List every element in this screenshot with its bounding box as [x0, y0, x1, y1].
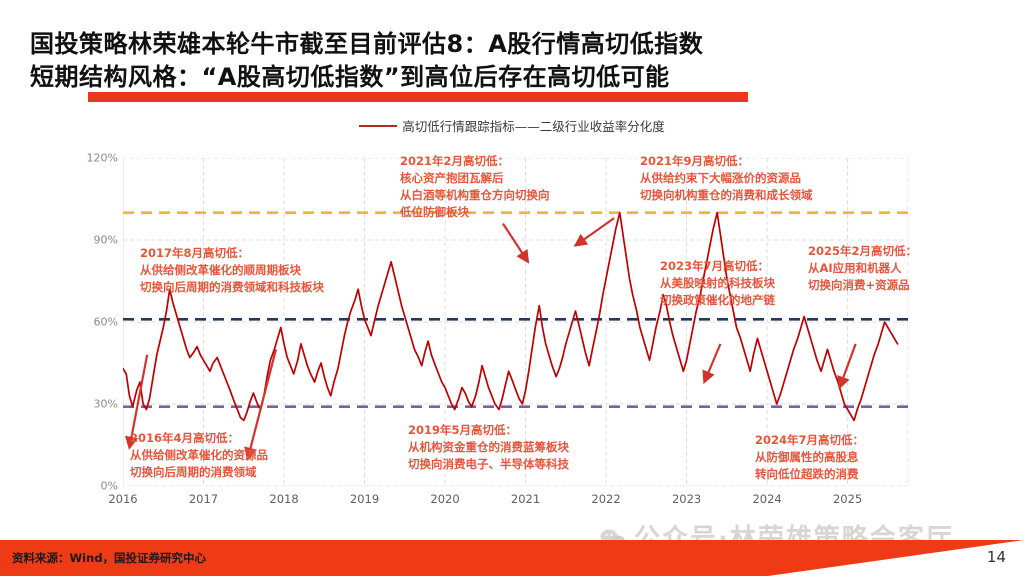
anno-2019-05-line1: 从机构资金重仓的消费蓝筹板块: [408, 439, 569, 456]
anno-2021-02-line1: 核心资产抱团瓦解后: [400, 170, 550, 187]
source-note: 资料来源：Wind，国投证券研究中心: [12, 550, 206, 566]
anno-2021-09-line1: 从供给约束下大幅涨价的资源品: [640, 170, 813, 187]
anno-2019-05-line2: 切换向消费电子、半导体等科技: [408, 456, 569, 473]
anno-2024-07-title: 2024年7月高切低：: [755, 432, 864, 449]
anno-2017-08: 2017年8月高切低：从供给侧改革催化的顺周期板块切换向后周期的消费领域和科技板…: [140, 245, 324, 296]
anno-2025-02-line2: 切换向消费+资源品: [808, 277, 917, 294]
anno-2021-02: 2021年2月高切低：核心资产抱团瓦解后从白酒等机构重仓方向切换向低位防御板块: [400, 153, 550, 221]
x-axis-tick: 2021: [511, 492, 540, 506]
anno-2024-07-line2: 转向低位超跌的消费: [755, 466, 864, 483]
page-title-line-2: 短期结构风格：“A股高切低指数”到高位后存在高切低可能: [30, 57, 670, 92]
x-axis-tick: 2018: [269, 492, 298, 506]
anno-2021-02-title: 2021年2月高切低：: [400, 153, 550, 170]
anno-2021-09-title: 2021年9月高切低：: [640, 153, 813, 170]
anno-2016-04-line2: 切换向后周期的消费领域: [130, 464, 268, 481]
x-axis-tick: 2022: [591, 492, 620, 506]
y-axis-tick: 90%: [74, 234, 118, 247]
x-axis-tick: 2019: [350, 492, 379, 506]
y-axis-tick: 30%: [74, 398, 118, 411]
page-number: 14: [987, 548, 1006, 566]
anno-2021-02-line3: 低位防御板块: [400, 204, 550, 221]
x-axis-tick: 2020: [430, 492, 459, 506]
anno-2023-07-line2: 切换政策催化的地产链: [660, 292, 775, 309]
anno-2016-04: 2016年4月高切低：从供给侧改革催化的资源品切换向后周期的消费领域: [130, 430, 268, 481]
anno-2023-07-line1: 从美股映射的科技板块: [660, 275, 775, 292]
anno-2016-04-line1: 从供给侧改革催化的资源品: [130, 447, 268, 464]
y-axis-tick: 120%: [74, 152, 118, 165]
x-axis-tick: 2023: [672, 492, 701, 506]
x-axis-tick: 2017: [189, 492, 218, 506]
anno-2025-02-title: 2025年2月高切低：: [808, 243, 917, 260]
chart-container: 高切低行情跟踪指标——二级行业收益率分化度 0%30%60%90%120% 20…: [0, 100, 1024, 530]
y-axis-tick: 0%: [74, 480, 118, 493]
anno-2016-04-title: 2016年4月高切低：: [130, 430, 268, 447]
anno-2023-07-title: 2023年7月高切低：: [660, 258, 775, 275]
anno-2023-07: 2023年7月高切低：从美股映射的科技板块切换政策催化的地产链: [660, 258, 775, 309]
title-block: 国投策略林荣雄本轮牛市截至目前评估8：A股行情高切低指数 短期结构风格：“A股高…: [0, 0, 1024, 98]
anno-2019-05: 2019年5月高切低：从机构资金重仓的消费蓝筹板块切换向消费电子、半导体等科技: [408, 422, 569, 473]
legend-label: 高切低行情跟踪指标——二级行业收益率分化度: [402, 119, 665, 134]
chart-legend: 高切低行情跟踪指标——二级行业收益率分化度: [0, 116, 1024, 135]
x-axis-tick: 2024: [752, 492, 781, 506]
anno-2025-02: 2025年2月高切低：从AI应用和机器人切换向消费+资源品: [808, 243, 917, 294]
anno-2021-09: 2021年9月高切低：从供给约束下大幅涨价的资源品切换向机构重仓的消费和成长领域: [640, 153, 813, 204]
anno-2021-09-line2: 切换向机构重仓的消费和成长领域: [640, 187, 813, 204]
y-axis-labels: 0%30%60%90%120%: [74, 158, 118, 486]
legend-line-swatch: [359, 125, 397, 127]
y-axis-tick: 60%: [74, 316, 118, 329]
page-title-line-1: 国投策略林荣雄本轮牛市截至目前评估8：A股行情高切低指数: [30, 24, 703, 59]
anno-2017-08-line2: 切换向后周期的消费领域和科技板块: [140, 279, 324, 296]
anno-2021-02-line2: 从白酒等机构重仓方向切换向: [400, 187, 550, 204]
x-axis-tick: 2025: [833, 492, 862, 506]
x-axis-labels: 2016201720182019202020212022202320242025: [123, 492, 908, 512]
anno-2024-07-line1: 从防御属性的高股息: [755, 449, 864, 466]
x-axis-tick: 2016: [108, 492, 137, 506]
anno-2024-07: 2024年7月高切低：从防御属性的高股息转向低位超跌的消费: [755, 432, 864, 483]
anno-2017-08-title: 2017年8月高切低：: [140, 245, 324, 262]
anno-2017-08-line1: 从供给侧改革催化的顺周期板块: [140, 262, 324, 279]
anno-2019-05-title: 2019年5月高切低：: [408, 422, 569, 439]
anno-2025-02-line1: 从AI应用和机器人: [808, 260, 917, 277]
